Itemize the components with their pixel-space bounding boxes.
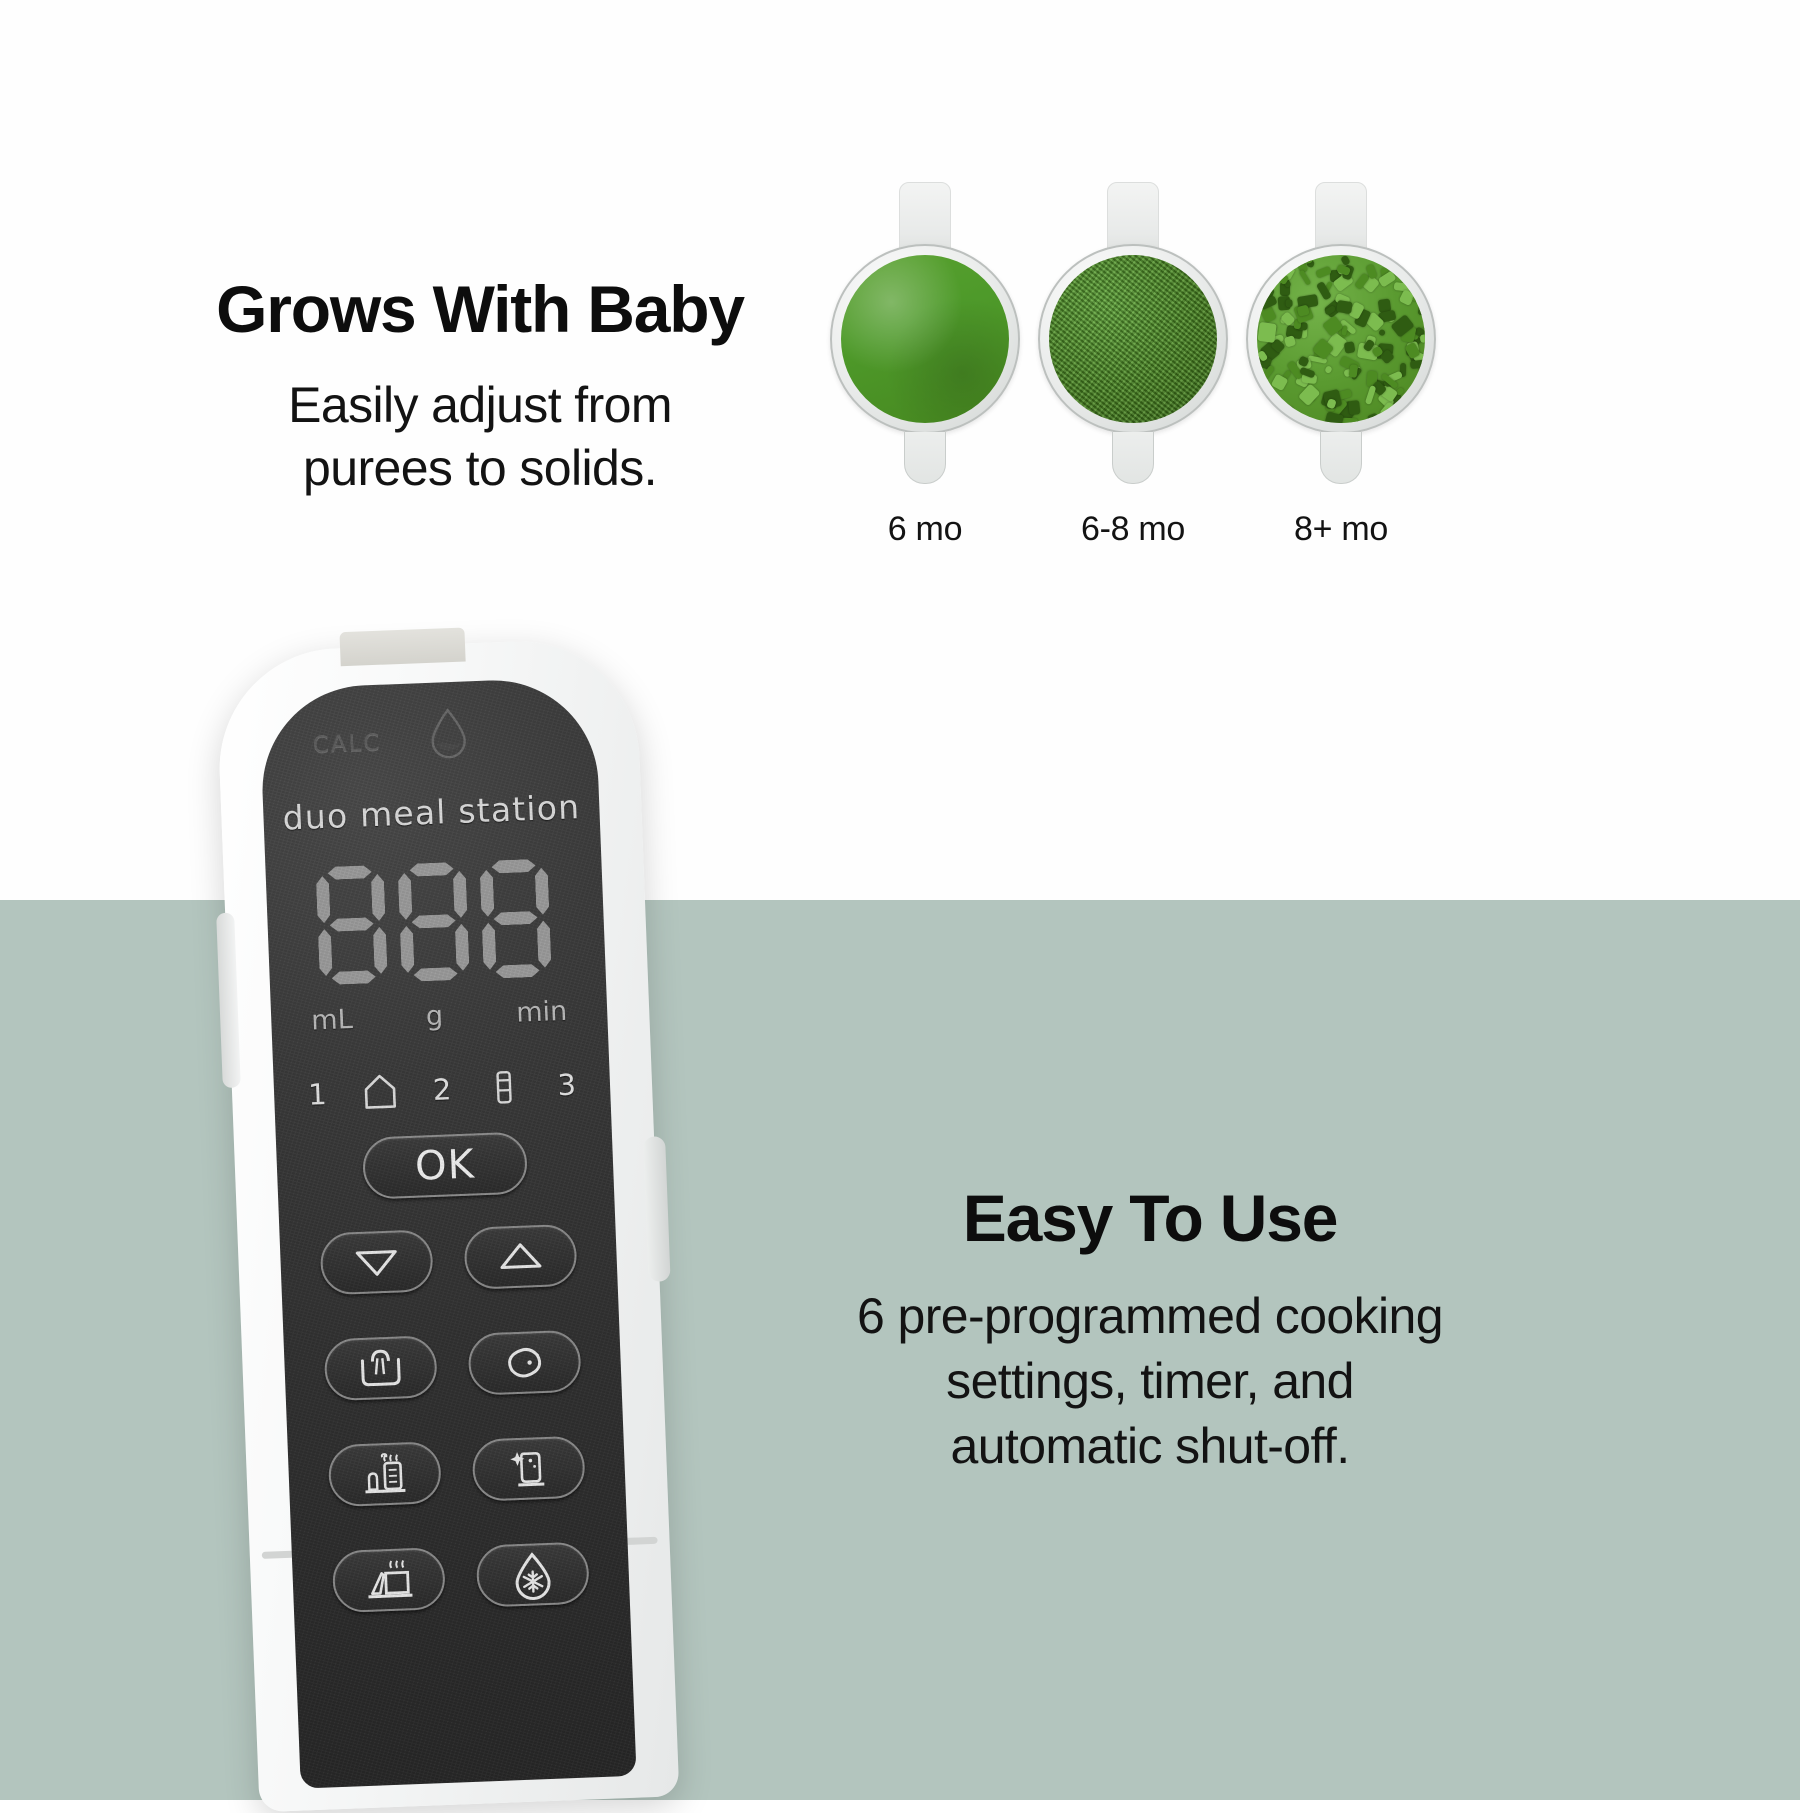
easy-text-block: Easy To Use 6 pre-programmed cooking set… [700, 1180, 1600, 1479]
food-chunk [1341, 418, 1358, 423]
bowl-row: 6 mo 6-8 mo 8+ mo [830, 180, 1450, 600]
calc-indicator-label: CALC [312, 730, 382, 759]
food-chunk [1410, 393, 1425, 410]
food-chunk [1410, 359, 1425, 369]
easy-body-line3: automatic shut-off. [950, 1418, 1349, 1474]
bottle-warm-button[interactable] [328, 1441, 442, 1507]
mode-number-3: 3 [557, 1068, 577, 1103]
grows-text-block: Grows With Baby Easily adjust from puree… [120, 275, 840, 499]
triangle-up-icon [497, 1241, 544, 1273]
sterilize-icon [505, 1447, 553, 1491]
food-chunk [1299, 270, 1312, 286]
duo-meal-station-device: CALC duo meal station m [215, 637, 679, 1812]
easy-title: Easy To Use [700, 1180, 1600, 1256]
food-chunk [1283, 405, 1295, 418]
food-chunk [1379, 330, 1386, 337]
bowl-body [1246, 244, 1436, 434]
ok-button-label: OK [414, 1141, 475, 1189]
bottle-icon [486, 1068, 523, 1107]
food-chunk [1325, 366, 1333, 375]
bowl-6mo: 6 mo [830, 180, 1020, 600]
mode-number-2: 2 [432, 1072, 452, 1107]
food-texture-fine-chopped [1049, 255, 1217, 423]
bowl-age-label: 8+ mo [1246, 510, 1436, 549]
food-chunk [1298, 384, 1321, 407]
ok-button[interactable]: OK [362, 1131, 528, 1199]
bowl-spout [1112, 432, 1154, 484]
sterilize-button[interactable] [472, 1435, 586, 1501]
food-chunk [1373, 416, 1391, 423]
food-texture-chunky [1257, 255, 1425, 423]
food-chunk [1258, 322, 1277, 343]
mode-indicator-row: 1 2 3 [307, 1066, 576, 1114]
bowl-spout [1320, 432, 1362, 484]
blend-button[interactable] [467, 1330, 581, 1396]
water-drop-icon [427, 707, 469, 760]
bowl-contents [1049, 255, 1217, 423]
device-lid-tab [339, 627, 465, 666]
mode-number-1: 1 [308, 1077, 328, 1112]
bowl-8plus-mo: 8+ mo [1246, 180, 1436, 600]
easy-body-line2: settings, timer, and [946, 1353, 1354, 1409]
steam-cook-button[interactable] [324, 1335, 438, 1401]
steam-cook-icon [354, 1347, 407, 1389]
control-panel-faceplate: CALC duo meal station m [259, 677, 637, 1789]
unit-min: min [516, 996, 568, 1029]
increase-button[interactable] [463, 1224, 577, 1290]
reheat-icon [361, 1558, 417, 1602]
bowl-contents [1257, 255, 1425, 423]
unit-label-row: mL g min [311, 996, 568, 1037]
food-chunk [1259, 385, 1268, 392]
food-chunk [1364, 385, 1376, 405]
food-chunk [1348, 364, 1358, 378]
food-chunk [1285, 300, 1292, 309]
brand-wordmark: duo meal station [263, 786, 600, 838]
grows-subtitle-line2: purees to solids. [303, 440, 657, 496]
easy-body-line1: 6 pre-programmed cooking [857, 1288, 1443, 1344]
decrease-button[interactable] [320, 1229, 434, 1295]
defrost-drop-icon [510, 1551, 556, 1599]
grows-subtitle-line1: Easily adjust from [288, 377, 672, 433]
food-chunk [1420, 333, 1425, 342]
food-chunk [1348, 400, 1361, 415]
bottle-warm-icon [358, 1452, 412, 1496]
grows-title: Grows With Baby [120, 275, 840, 344]
bowl-spout [904, 432, 946, 484]
seven-segment-display [315, 858, 559, 987]
grows-subtitle: Easily adjust from purees to solids. [120, 374, 840, 499]
display-digit-2 [397, 862, 469, 983]
food-chunk [1344, 341, 1355, 353]
reheat-button[interactable] [332, 1547, 446, 1613]
unit-ml: mL [311, 1004, 354, 1037]
food-chunk [1265, 409, 1278, 417]
easy-body: 6 pre-programmed cooking settings, timer… [700, 1284, 1600, 1479]
display-digit-1 [315, 865, 387, 986]
bowl-6-8mo: 6-8 mo [1038, 180, 1228, 600]
bowl-age-label: 6 mo [830, 510, 1020, 549]
bowl-body [1038, 244, 1228, 434]
blend-icon [501, 1341, 549, 1385]
bowl-age-label: 6-8 mo [1038, 510, 1228, 549]
bowl-body [830, 244, 1020, 434]
steam-basket-icon [361, 1072, 398, 1111]
bowl-contents [841, 255, 1009, 423]
defrost-button[interactable] [476, 1541, 590, 1607]
triangle-down-icon [353, 1246, 400, 1278]
food-texture-puree [841, 255, 1009, 423]
food-chunk [1337, 300, 1353, 314]
food-chunk [1270, 255, 1287, 273]
unit-g: g [425, 1001, 443, 1033]
display-digit-3 [479, 858, 551, 979]
